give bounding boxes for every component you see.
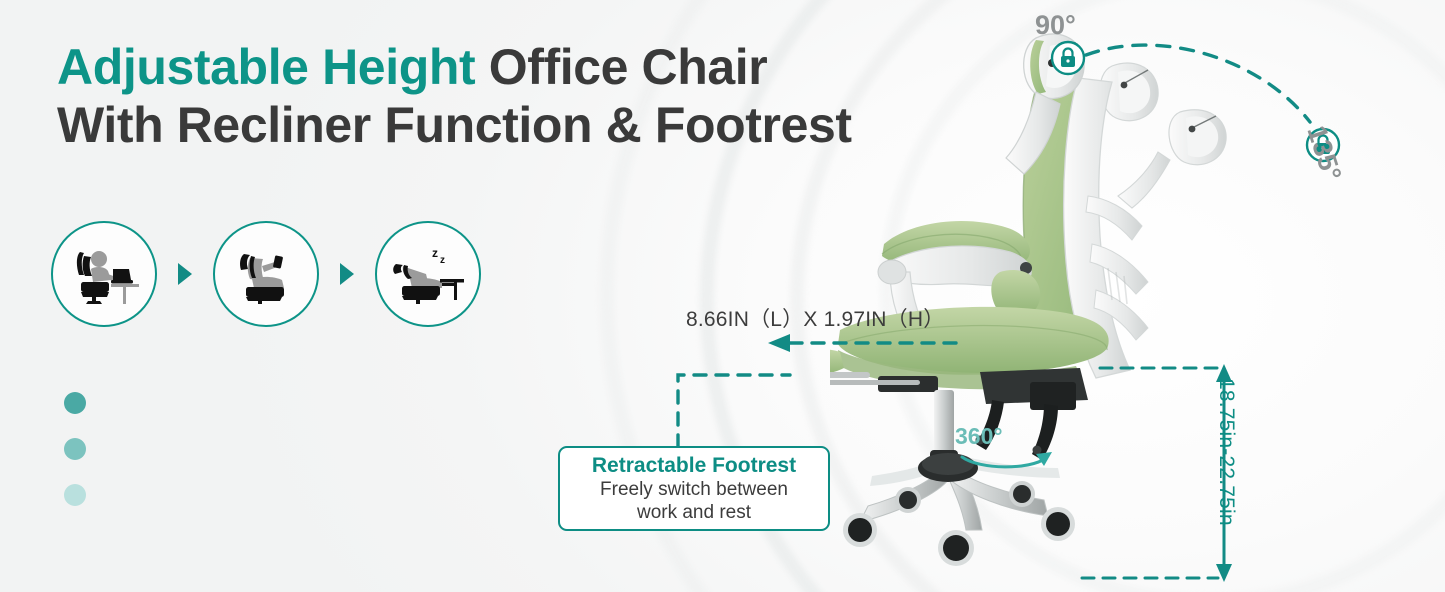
person-sleeping-footrest-icon: z z (388, 242, 468, 306)
triangle-right-icon (175, 261, 195, 287)
step-icon-working-at-desk (51, 221, 157, 327)
decorative-dot-group (64, 392, 86, 530)
headrest-position-3 (1118, 110, 1226, 208)
step-icon-reclining-with-phone (213, 221, 319, 327)
svg-text:z: z (440, 255, 445, 266)
person-at-desk-icon (67, 242, 141, 306)
lock-icon-135 (1305, 127, 1341, 163)
headline-rest: Office Chair (475, 39, 767, 95)
footrest-callout-box: Retractable Footrest Freely switch betwe… (558, 446, 830, 531)
lock-icon-90 (1050, 40, 1086, 76)
decorative-dot (64, 392, 86, 414)
decorative-dot (64, 438, 86, 460)
page-title: Adjustable Height Office Chair With Recl… (57, 38, 852, 154)
headline-accent: Adjustable Height (57, 39, 475, 95)
step-icon-sleeping-with-footrest: z z (375, 221, 481, 327)
callout-subtitle-line1: Freely switch between (600, 479, 788, 500)
product-infographic-banner: Adjustable Height Office Chair With Recl… (0, 0, 1445, 592)
footrest-dimension-arrowhead (768, 334, 790, 352)
office-chair-product-image (830, 0, 1300, 592)
callout-title: Retractable Footrest (592, 454, 796, 477)
footrest-leader-line (678, 375, 790, 447)
person-reclining-icon (230, 242, 302, 306)
svg-text:z: z (432, 246, 438, 260)
decorative-dot (64, 484, 86, 506)
headline-line2: With Recliner Function & Footrest (57, 96, 852, 154)
triangle-right-icon (337, 261, 357, 287)
usage-step-sequence: z z (51, 221, 481, 327)
callout-subtitle-line2: work and rest (637, 502, 751, 523)
